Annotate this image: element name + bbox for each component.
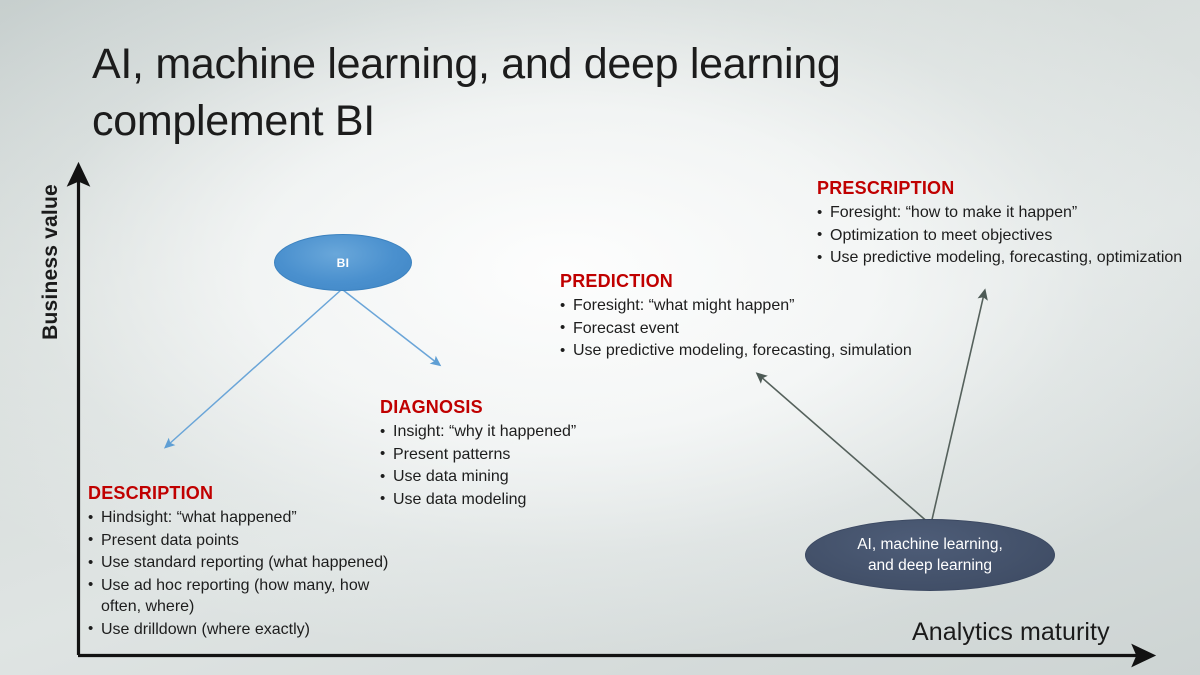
list-item: Insight: “why it happened”: [380, 421, 630, 443]
block-prescription: PRESCRIPTION Foresight: “how to make it …: [817, 178, 1200, 270]
block-prescription-list: Foresight: “how to make it happen” Optim…: [817, 202, 1200, 269]
slide-canvas: AI, machine learning, and deep learning …: [0, 0, 1200, 675]
list-item: Optimization to meet objectives: [817, 225, 1200, 247]
connector-ai-to-prediction: [760, 376, 930, 524]
block-prediction-heading: PREDICTION: [560, 271, 950, 292]
list-item: Forecast event: [560, 318, 950, 340]
list-item: Present patterns: [380, 444, 630, 466]
list-item: Present data points: [88, 530, 418, 552]
list-item-text: Use ad hoc reporting (how many, how: [101, 577, 369, 594]
connector-bi-to-diagnosis: [343, 290, 437, 363]
list-item: Use data mining: [380, 466, 630, 488]
list-item: Use standard reporting (what happened): [88, 552, 418, 574]
x-axis-label: Analytics maturity: [912, 618, 1110, 647]
node-ai-ml-dl[interactable]: AI, machine learning, and deep learning: [805, 519, 1055, 591]
connector-bi-to-description: [168, 290, 341, 445]
block-diagnosis-list: Insight: “why it happened” Present patte…: [380, 421, 630, 510]
node-bi-label: BI: [337, 256, 350, 270]
block-description: DESCRIPTION Hindsight: “what happened” P…: [88, 483, 418, 641]
block-description-list: Hindsight: “what happened” Present data …: [88, 507, 418, 640]
list-item-continuation: often, where): [101, 596, 418, 618]
list-item: Foresight: “what might happen”: [560, 295, 950, 317]
node-ai-ml-dl-label: AI, machine learning, and deep learning: [857, 534, 1003, 576]
list-item: Use ad hoc reporting (how many, howoften…: [88, 575, 418, 618]
block-description-heading: DESCRIPTION: [88, 483, 418, 504]
list-item: Foresight: “how to make it happen”: [817, 202, 1200, 224]
list-item: Use drilldown (where exactly): [88, 619, 418, 641]
list-item: Use predictive modeling, forecasting, si…: [560, 340, 950, 362]
block-prescription-heading: PRESCRIPTION: [817, 178, 1200, 199]
block-diagnosis-heading: DIAGNOSIS: [380, 397, 630, 418]
block-prediction: PREDICTION Foresight: “what might happen…: [560, 271, 950, 363]
list-item: Hindsight: “what happened”: [88, 507, 418, 529]
list-item: Use data modeling: [380, 489, 630, 511]
node-bi[interactable]: BI: [274, 234, 412, 291]
y-axis-label: Business value: [39, 162, 63, 362]
block-prediction-list: Foresight: “what might happen” Forecast …: [560, 295, 950, 362]
list-item: Use predictive modeling, forecasting, op…: [817, 247, 1200, 269]
block-diagnosis: DIAGNOSIS Insight: “why it happened” Pre…: [380, 397, 630, 511]
